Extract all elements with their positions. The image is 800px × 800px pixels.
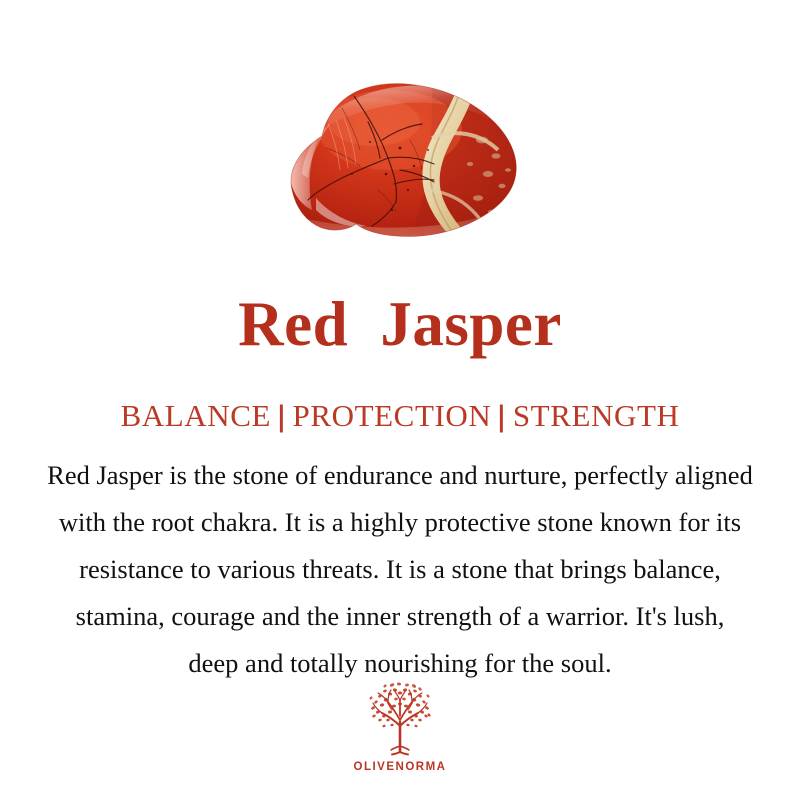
- stone-image: [282, 78, 532, 243]
- description-line: Red Jasper is the stone of endurance and…: [0, 452, 800, 499]
- brand-wordmark: OLIVENORMA: [354, 761, 447, 773]
- description-line: stamina, courage and the inner strength …: [0, 593, 800, 640]
- keyword-protection: PROTECTION: [293, 398, 492, 433]
- tree-of-life-icon: [358, 682, 442, 758]
- keyword-balance: BALANCE: [120, 398, 271, 433]
- keyword-strength: STRENGTH: [513, 398, 680, 433]
- description-text: Red Jasper is the stone of endurance and…: [0, 452, 800, 687]
- keyword-line: BALANCE|PROTECTION|STRENGTH: [0, 400, 800, 431]
- page-title: Red Jasper: [0, 293, 800, 356]
- brand-logo: OLIVENORMA: [0, 682, 800, 773]
- red-jasper-stone-illustration: [282, 78, 532, 243]
- red-jasper-info-card: Red Jasper BALANCE|PROTECTION|STRENGTH R…: [0, 0, 800, 800]
- description-line: with the root chakra. It is a highly pro…: [0, 499, 800, 546]
- keyword-separator: |: [497, 400, 507, 431]
- description-line: deep and totally nourishing for the soul…: [0, 640, 800, 687]
- keyword-separator: |: [277, 400, 287, 431]
- description-line: resistance to various threats. It is a s…: [0, 546, 800, 593]
